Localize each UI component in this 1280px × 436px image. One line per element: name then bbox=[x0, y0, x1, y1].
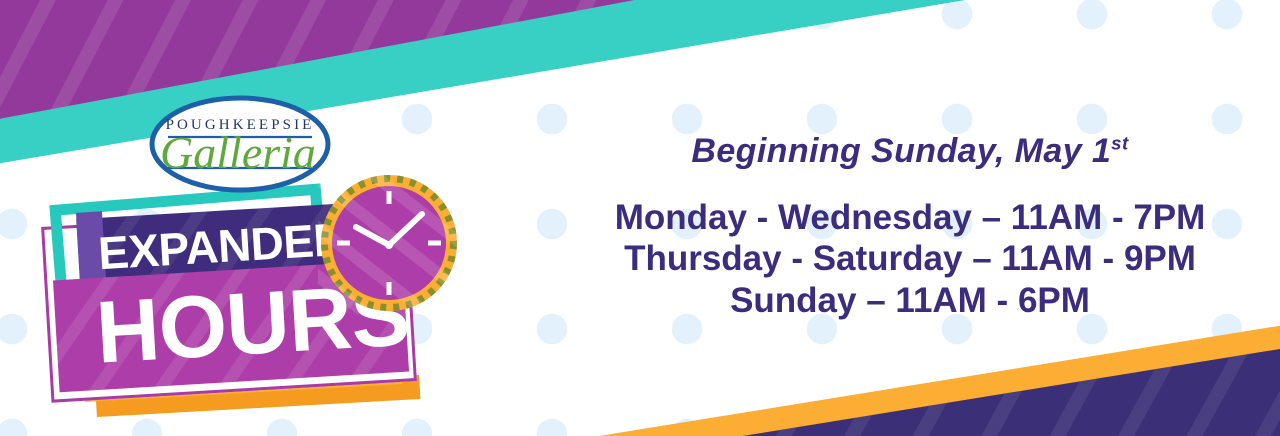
hours-info-block: Beginning Sunday, May 1st Monday - Wedne… bbox=[560, 132, 1260, 321]
hours-line-1: Monday - Wednesday – 11AM - 7PM bbox=[560, 197, 1260, 238]
start-date-text: Beginning Sunday, May 1 bbox=[691, 132, 1111, 170]
ordinal-suffix: st bbox=[1111, 133, 1128, 154]
clock-icon bbox=[318, 172, 460, 314]
hours-line-2: Thursday - Saturday – 11AM - 9PM bbox=[560, 238, 1260, 279]
expanded-hours-banner: POUGHKEEPSIE Galleria EXPANDED HOURS bbox=[0, 0, 1280, 436]
hours-line-3: Sunday – 11AM - 6PM bbox=[560, 280, 1260, 321]
start-date-heading: Beginning Sunday, May 1st bbox=[560, 132, 1260, 171]
galleria-logo: POUGHKEEPSIE Galleria bbox=[142, 92, 338, 196]
logo-name-text: Galleria bbox=[160, 127, 316, 178]
